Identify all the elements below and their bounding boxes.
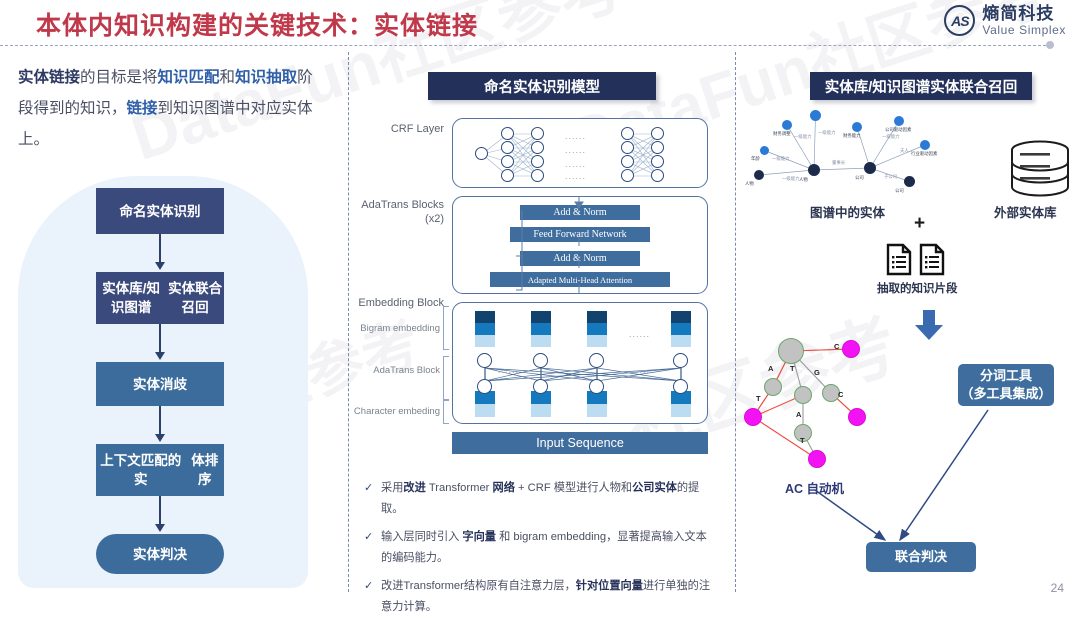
knowledge-snippet-icons — [886, 243, 945, 276]
caption-external-db: 外部实体库 — [994, 202, 1057, 221]
knowledge-graph-illustration: 财务调整年龄人物人物财务能力公司驱动因素行业驱动因素公司公司一级能力一级能力一级… — [752, 108, 942, 198]
bullet-seg-4: + CRF 模型进行人物和 — [515, 482, 632, 494]
lead-segment-6: 链接 — [127, 100, 158, 117]
flow-step-1-line-1: 命名实体识别 — [120, 202, 201, 221]
flow-step-4-line-2: 体排序 — [186, 451, 224, 489]
kg-node — [864, 162, 876, 174]
bullet-seg-0: 改进Transformer结构原有自注意力层， — [381, 580, 576, 592]
bullet-seg-3: 网络 — [493, 482, 515, 494]
ac-terminal-node — [842, 340, 860, 358]
check-icon: ✓ — [364, 527, 374, 569]
entity-linking-flowchart: 命名实体识别实体库/知识图谱实体联合召回实体消歧上下文匹配的实体排序实体判决 — [96, 188, 224, 574]
kg-node-label: 财务调整 — [773, 131, 791, 137]
joint-recall-panel-title: 实体库/知识图谱实体联合召回 — [810, 72, 1032, 100]
ac-edge-letter: C — [838, 390, 843, 399]
lead-segment-0: 实体链接 — [18, 69, 80, 86]
header-divider — [0, 45, 1046, 46]
ac-edge-letter: G — [814, 368, 820, 377]
model-connection-lines — [452, 118, 708, 458]
document-icon — [919, 243, 945, 276]
ner-bullet-3-text: 改进Transformer结构原有自注意力层，针对位置向量进行单独的注意力计算。 — [381, 576, 716, 618]
kg-edge-label: 一级能力 — [882, 134, 900, 140]
flow-step-4[interactable]: 上下文匹配的实体排序 — [96, 444, 224, 496]
kg-node-label: 财务能力 — [843, 133, 861, 139]
label-adatrans-blocks: AdaTrans Blocks (x2) — [340, 198, 444, 226]
kg-edge-label: 一级能力 — [818, 130, 836, 136]
logo-name-en: Value Simplex — [982, 23, 1066, 37]
bullet-seg-1: 字向量 — [462, 531, 496, 543]
flow-arrow-4 — [96, 496, 224, 534]
flow-step-2-line-2: 实体联合召回 — [166, 279, 224, 317]
flow-step-4-line-1: 上下文匹配的实 — [96, 451, 186, 489]
brand-logo: AS 熵简科技 Value Simplex — [944, 5, 1066, 37]
page-number: 24 — [1051, 581, 1064, 595]
flow-arrow-1 — [96, 234, 224, 272]
label-bigram-embedding: Bigram embedding — [340, 322, 440, 336]
bullet-seg-1: 针对位置向量 — [576, 580, 643, 592]
kg-node — [894, 116, 904, 126]
kg-node-label: 行业驱动因素 — [911, 151, 937, 157]
ac-state-node — [764, 378, 782, 396]
ac-state-node — [778, 338, 804, 364]
ac-edge-letter: C — [834, 342, 839, 351]
kg-node — [782, 120, 792, 130]
bullet-seg-2: Transformer — [426, 482, 493, 494]
lead-paragraph: 实体链接的目标是将知识匹配和知识抽取阶段得到的知识，链接到知识图谱中对应实体上。 — [18, 62, 328, 155]
header-divider-dot — [1046, 41, 1054, 49]
caption-knowledge-snippets: 抽取的知识片段 — [877, 280, 958, 296]
ner-bullet-1-text: 采用改进 Transformer 网络 + CRF 模型进行人物和公司实体的提取… — [381, 478, 716, 520]
ac-edge-letter: A — [768, 364, 773, 373]
kg-node-label: 人物 — [745, 181, 754, 187]
flow-step-3[interactable]: 实体消歧 — [96, 362, 224, 406]
caption-graph-entities: 图谱中的实体 — [810, 202, 885, 221]
plus-sign: + — [914, 213, 925, 235]
kg-node-label: 公司 — [855, 175, 864, 181]
flow-step-2-line-1: 实体库/知识图谱 — [96, 279, 166, 317]
ac-edge-letter: T — [790, 364, 795, 373]
bullet-seg-5: 公司实体 — [632, 482, 677, 494]
page-title: 本体内知识构建的关键技术：实体链接 — [36, 6, 478, 42]
ner-bullet-1: ✓采用改进 Transformer 网络 + CRF 模型进行人物和公司实体的提… — [364, 478, 716, 520]
right-panel-arrows — [735, 400, 1080, 580]
label-crf-layer: CRF Layer — [340, 122, 444, 136]
flow-step-1[interactable]: 命名实体识别 — [96, 188, 224, 234]
kg-node-label: 公司 — [895, 188, 904, 194]
kg-node — [808, 164, 820, 176]
flow-step-5-line-1: 实体判决 — [133, 545, 187, 564]
bullet-seg-0: 采用 — [381, 482, 403, 494]
flow-step-3-line-1: 实体消歧 — [133, 375, 187, 394]
bullet-seg-1: 改进 — [403, 482, 425, 494]
kg-edge-label: 董事长 — [832, 160, 845, 166]
check-icon: ✓ — [364, 576, 374, 618]
logo-mark-icon: AS — [944, 5, 975, 36]
flow-step-2[interactable]: 实体库/知识图谱实体联合召回 — [96, 272, 224, 324]
flow-step-5[interactable]: 实体判决 — [96, 534, 224, 574]
label-embedding-block: Embedding Block — [340, 296, 444, 310]
kg-node-label: 人物 — [799, 177, 808, 183]
flow-arrow-3 — [96, 406, 224, 444]
logo-name-cn: 熵简科技 — [982, 5, 1066, 23]
kg-node — [920, 140, 930, 150]
bracket-adatrans — [443, 356, 449, 400]
kg-node-label: 公司驱动因素 — [885, 127, 911, 133]
flow-arrow-2 — [96, 324, 224, 362]
bracket-bigram — [443, 306, 449, 350]
kg-edge-label: 子公司 — [884, 174, 897, 180]
label-character-embedding: Character embeding — [340, 405, 440, 419]
kg-node-label: 年龄 — [751, 156, 760, 162]
ner-bullet-2-text: 输入层同时引入 字向量 和 bigram embedding，显著提高输入文本的… — [381, 527, 716, 569]
kg-edge-label: 夫人 — [900, 148, 909, 154]
kg-node — [904, 176, 915, 187]
check-icon: ✓ — [364, 478, 374, 520]
kg-node — [852, 122, 862, 132]
bracket-character — [443, 400, 449, 424]
kg-node — [810, 110, 821, 121]
label-adatrans-block: AdaTrans Block — [340, 364, 440, 378]
kg-edge-label: 一级能力 — [794, 134, 812, 140]
kg-edge-label: 一级能力 — [782, 176, 800, 182]
ner-bullet-list: ✓采用改进 Transformer 网络 + CRF 模型进行人物和公司实体的提… — [364, 478, 716, 625]
ner-bullet-2: ✓输入层同时引入 字向量 和 bigram embedding，显著提高输入文本… — [364, 527, 716, 569]
lead-segment-4: 知识抽取 — [235, 69, 297, 86]
kg-edge-label: 一级能力 — [772, 156, 790, 162]
external-entity-db-icon — [1008, 140, 1072, 203]
lead-segment-3: 和 — [220, 69, 236, 86]
kg-node — [760, 146, 769, 155]
bullet-seg-0: 输入层同时引入 — [381, 531, 462, 543]
ner-bullet-3: ✓改进Transformer结构原有自注意力层，针对位置向量进行单独的注意力计算… — [364, 576, 716, 618]
lead-segment-1: 的目标是将 — [80, 69, 158, 86]
ner-model-panel-title: 命名实体识别模型 — [428, 72, 656, 100]
lead-segment-2: 知识匹配 — [158, 69, 220, 86]
kg-node — [754, 170, 764, 180]
document-icon — [886, 243, 912, 276]
